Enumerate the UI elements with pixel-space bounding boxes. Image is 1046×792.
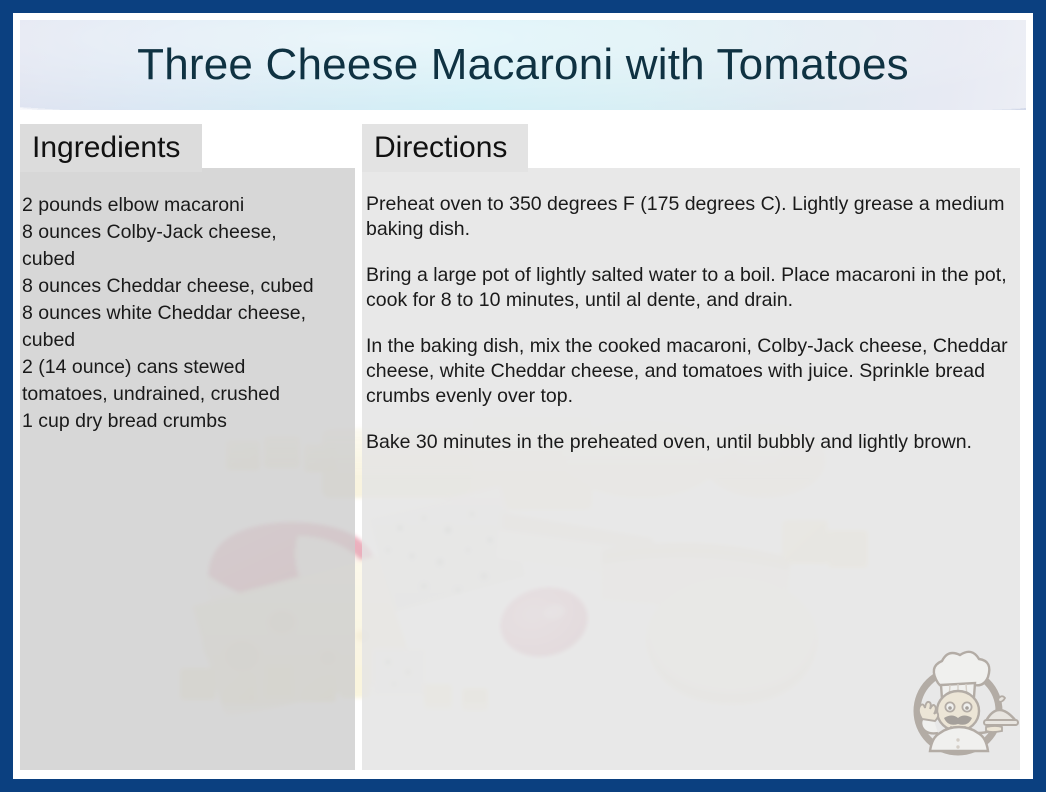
ingredients-header-box: Ingredients [20, 124, 202, 172]
ingredient-line: tomatoes, undrained, crushed [22, 381, 352, 408]
direction-step: Bake 30 minutes in the preheated oven, u… [366, 430, 1008, 455]
slide-border-bottom [0, 779, 1046, 792]
ingredient-line: cubed [22, 246, 352, 273]
title-banner: Three Cheese Macaroni with Tomatoes [20, 20, 1026, 110]
slide-border-right [1033, 0, 1046, 792]
chef-with-cloche-logo [900, 645, 1020, 765]
slide-border-left [0, 0, 13, 792]
direction-step: Preheat oven to 350 degrees F (175 degre… [366, 192, 1008, 242]
direction-step: In the baking dish, mix the cooked macar… [366, 334, 1008, 409]
directions-list: Preheat oven to 350 degrees F (175 degre… [366, 192, 1008, 455]
directions-heading: Directions [374, 131, 507, 165]
slide-border-top [0, 0, 1046, 13]
directions-header-box: Directions [362, 124, 528, 172]
page-title: Three Cheese Macaroni with Tomatoes [20, 40, 1026, 90]
ingredient-line: 1 cup dry bread crumbs [22, 408, 352, 435]
ingredients-list: 2 pounds elbow macaroni 8 ounces Colby-J… [22, 192, 352, 435]
ingredient-line: 8 ounces Colby-Jack cheese, [22, 219, 352, 246]
ingredient-line: 2 pounds elbow macaroni [22, 192, 352, 219]
ingredient-line: 2 (14 ounce) cans stewed [22, 354, 352, 381]
ingredient-line: cubed [22, 327, 352, 354]
recipe-slide: Three Cheese Macaroni with Tomatoes Ingr… [0, 0, 1046, 792]
direction-step: Bring a large pot of lightly salted wate… [366, 263, 1008, 313]
ingredient-line: 8 ounces white Cheddar cheese, [22, 300, 352, 327]
ingredients-heading: Ingredients [32, 131, 180, 165]
ingredient-line: 8 ounces Cheddar cheese, cubed [22, 273, 352, 300]
